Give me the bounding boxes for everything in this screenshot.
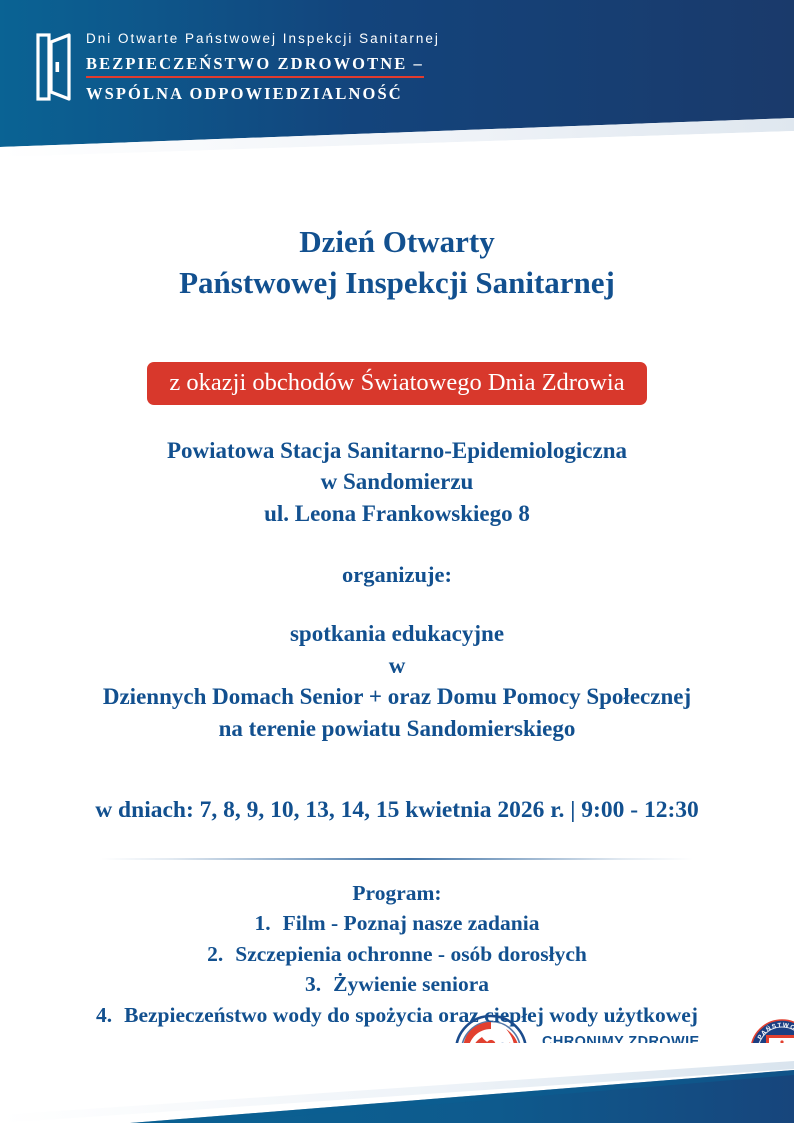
poster-body: Dzień Otwarty Państwowej Inspekcji Sanit… xyxy=(0,160,794,1031)
meetings-block: spotkania edukacyjne w Dziennych Domach … xyxy=(0,618,794,745)
meetings-line4: na terenie powiatu Sandomierskiego xyxy=(0,713,794,745)
poster-page: Dni Otwarte Państwowej Inspekcji Sanitar… xyxy=(0,0,794,1123)
organizer-city: w Sandomierzu xyxy=(0,466,794,497)
meetings-line1: spotkania edukacyjne xyxy=(0,618,794,650)
header-slogan-line1-text: BEZPIECZEŃSTWO ZDROWOTNE – xyxy=(86,54,424,73)
program-item-text: Żywienie seniora xyxy=(333,972,489,996)
program-heading: Program: xyxy=(0,878,794,909)
occasion-banner-row: z okazji obchodów Światowego Dnia Zdrowi… xyxy=(0,362,794,405)
page-title-line2: Państwowej Inspekcji Sanitarnej xyxy=(0,263,794,304)
organizer-name: Powiatowa Stacja Sanitarno-Epidemiologic… xyxy=(0,435,794,466)
page-title-line1: Dzień Otwarty xyxy=(0,222,794,263)
page-title: Dzień Otwarty Państwowej Inspekcji Sanit… xyxy=(0,222,794,304)
meetings-line2: w xyxy=(0,650,794,682)
program-item: 1.Film - Poznaj nasze zadania xyxy=(0,908,794,939)
section-divider xyxy=(101,858,693,860)
program-item-number: 2. xyxy=(207,942,223,966)
program-item-number: 4. xyxy=(96,1003,112,1027)
program-item-text: Szczepienia ochronne - osób dorosłych xyxy=(235,942,587,966)
program-item: 3.Żywienie seniora xyxy=(0,969,794,1000)
header-slogan-line2: WSPÓLNA ODPOWIEDZIALNOŚĆ xyxy=(86,83,440,105)
program-section: Program: 1.Film - Poznaj nasze zadania 2… xyxy=(0,878,794,1031)
occasion-banner: z okazji obchodów Światowego Dnia Zdrowi… xyxy=(147,362,646,405)
header-subtitle: Dni Otwarte Państwowej Inspekcji Sanitar… xyxy=(86,31,440,47)
footer-background-shape xyxy=(0,1043,794,1123)
program-item-number: 3. xyxy=(305,972,321,996)
footer-banner xyxy=(0,1043,794,1123)
meetings-line3: Dziennych Domach Senior + oraz Domu Pomo… xyxy=(0,681,794,713)
organizes-label: organizuje: xyxy=(0,562,794,588)
header-slogan-line1: BEZPIECZEŃSTWO ZDROWOTNE – xyxy=(86,53,424,78)
program-item-number: 1. xyxy=(255,911,271,935)
header-banner: Dni Otwarte Państwowej Inspekcji Sanitar… xyxy=(0,0,794,160)
header-lockup: Dni Otwarte Państwowej Inspekcji Sanitar… xyxy=(36,31,440,106)
organizer-street: ul. Leona Frankowskiego 8 xyxy=(0,498,794,529)
header-red-underline xyxy=(86,76,424,79)
organizer-address: Powiatowa Stacja Sanitarno-Epidemiologic… xyxy=(0,435,794,529)
program-item: 2.Szczepienia ochronne - osób dorosłych xyxy=(0,939,794,970)
open-door-icon xyxy=(36,33,72,101)
program-item-text: Film - Poznaj nasze zadania xyxy=(283,911,540,935)
event-dates: w dniach: 7, 8, 9, 10, 13, 14, 15 kwietn… xyxy=(0,797,794,824)
